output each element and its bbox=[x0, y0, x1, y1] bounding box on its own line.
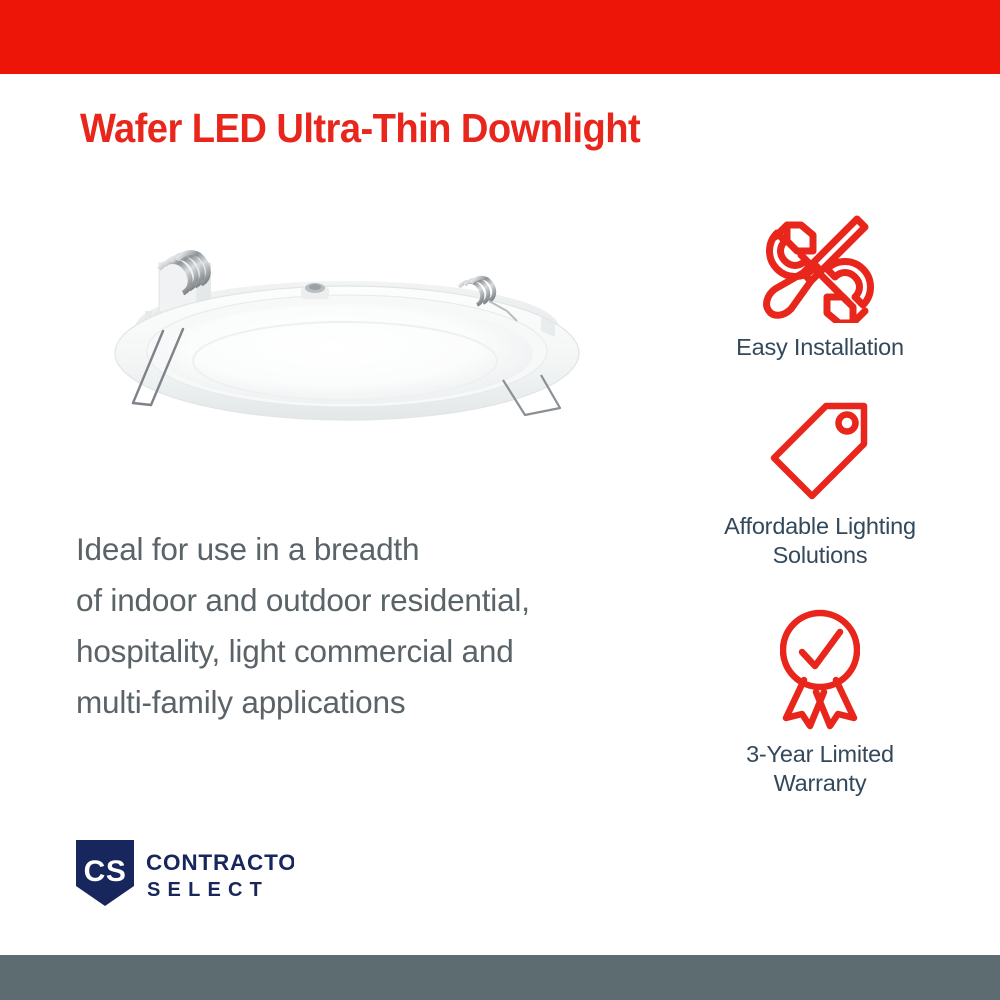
description-line-2: of indoor and outdoor residential, bbox=[76, 575, 656, 626]
wafer-led-downlight-illustration bbox=[55, 225, 635, 455]
logo-wordmark-select: SELECT bbox=[147, 879, 269, 901]
feature-label-line: Affordable Lighting bbox=[660, 512, 980, 541]
award-ribbon-check-icon bbox=[780, 606, 860, 730]
feature-label: 3-Year Limited Warranty bbox=[660, 740, 980, 798]
description-line-3: hospitality, light commercial and bbox=[76, 626, 656, 677]
feature-label-line: Solutions bbox=[660, 541, 980, 570]
description-line-1: Ideal for use in a breadth bbox=[76, 524, 656, 575]
feature-easy-installation: Easy Installation bbox=[660, 215, 980, 362]
product-image bbox=[55, 225, 635, 455]
wrench-screwdriver-icon bbox=[761, 215, 879, 323]
price-tag-icon bbox=[768, 400, 872, 502]
description-text: Ideal for use in a breadth of indoor and… bbox=[76, 524, 656, 728]
feature-label-line: 3-Year Limited bbox=[660, 740, 980, 769]
feature-list: Easy Installation Affordable Lighting So… bbox=[660, 215, 980, 798]
feature-label-line: Easy Installation bbox=[660, 333, 980, 362]
feature-warranty: 3-Year Limited Warranty bbox=[660, 606, 980, 798]
contractor-select-logo: CS CONTRACTOR SELECT bbox=[74, 838, 294, 910]
feature-label: Affordable Lighting Solutions bbox=[660, 512, 980, 570]
top-red-band bbox=[0, 0, 1000, 74]
bottom-gray-band bbox=[0, 955, 1000, 1000]
description-line-4: multi-family applications bbox=[76, 677, 656, 728]
logo-wordmark-contractor: CONTRACTOR bbox=[146, 850, 294, 875]
feature-label-line: Warranty bbox=[660, 769, 980, 798]
product-marketing-page: Wafer LED Ultra-Thin Downlight bbox=[0, 0, 1000, 1000]
feature-label: Easy Installation bbox=[660, 333, 980, 362]
badge-text-cs: CS bbox=[84, 855, 127, 888]
logo-svg: CS CONTRACTOR SELECT bbox=[74, 838, 294, 910]
page-title: Wafer LED Ultra-Thin Downlight bbox=[80, 108, 640, 149]
feature-affordable-lighting: Affordable Lighting Solutions bbox=[660, 400, 980, 570]
